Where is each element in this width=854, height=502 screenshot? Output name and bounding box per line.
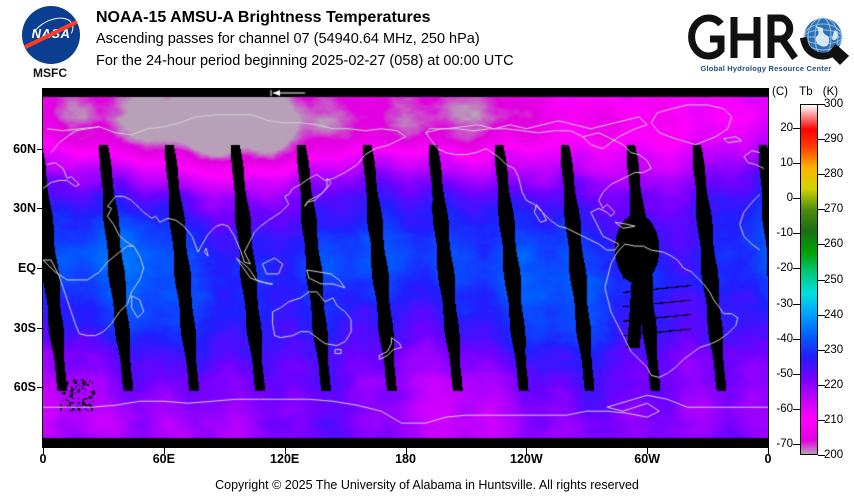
longitude-tick-mark [164,448,165,454]
longitude-tick-label: 180 [395,452,416,466]
longitude-tick-label: 120E [270,452,299,466]
colorbar-kelvin-label: 200 [824,449,843,461]
longitude-tick-label: 0 [40,452,47,466]
longitude-tick-mark [285,448,286,454]
longitude-tick-label: 60E [153,452,175,466]
colorbar-celsius-label: -20 [776,262,793,274]
colorbar-gradient[interactable] [800,104,818,455]
colorbar-kelvin-label: 250 [824,274,843,286]
colorbar-celsius-tick [793,268,800,269]
latitude-tick-mark [37,149,44,150]
colorbar-celsius-tick [793,128,800,129]
colorbar-celsius-label: -10 [776,227,793,239]
colorbar-celsius-unit: (C) [772,86,788,98]
latitude-tick-label: EQ [18,261,36,275]
colorbar-kelvin-unit: (K) [823,86,838,98]
nasa-logo: NASA MSFC [14,6,86,84]
colorbar-variable-label: Tb [799,86,812,98]
colorbar-kelvin-label: 230 [824,344,843,356]
longitude-tick-mark [406,448,407,454]
latitude-tick-label: 60S [14,380,36,394]
page-subtitle-period: For the 24-hour period beginning 2025-02… [96,50,676,72]
longitude-tick-label: 0 [765,452,772,466]
ghrc-logo: Global Hydrology Resource Center [683,8,849,80]
colorbar-celsius-label: 0 [787,192,793,204]
colorbar-kelvin-label: 220 [824,379,843,391]
colorbar-kelvin-label: 280 [824,168,843,180]
colorbar-celsius-tick [793,163,800,164]
nasa-center-label: MSFC [14,66,86,80]
colorbar-celsius-tick [793,339,800,340]
colorbar-kelvin-label: 300 [824,98,843,110]
colorbar-celsius-label: 20 [780,122,793,134]
title-block: NOAA-15 AMSU-A Brightness Temperatures A… [96,8,676,72]
ghrc-wordmark-icon [683,8,849,66]
latitude-tick-label: 30N [13,201,36,215]
colorbar-celsius-tick [793,409,800,410]
page-subtitle-channel: Ascending passes for channel 07 (54940.6… [96,28,676,50]
latitude-tick-mark [37,387,44,388]
colorbar-kelvin-label: 270 [824,203,843,215]
page-title: NOAA-15 AMSU-A Brightness Temperatures [96,8,676,28]
map-raster[interactable] [43,89,768,447]
copyright-notice: Copyright © 2025 The University of Alaba… [0,478,854,492]
longitude-tick-mark [43,448,44,454]
colorbar-kelvin-label: 240 [824,309,843,321]
colorbar-celsius-tick [793,198,800,199]
colorbar-celsius-tick [793,233,800,234]
colorbar-header: (C) Tb (K) [772,86,854,98]
colorbar-celsius-label: -30 [776,298,793,310]
latitude-tick-label: 30S [14,321,36,335]
longitude-tick-mark [647,448,648,454]
colorbar-celsius-label: -50 [776,368,793,380]
colorbar-celsius-label: 10 [780,157,793,169]
colorbar-kelvin-label: 210 [824,414,843,426]
page-header: NASA MSFC NOAA-15 AMSU-A Brightness Temp… [0,0,854,88]
colorbar-celsius-tick [793,304,800,305]
latitude-tick-mark [37,268,44,269]
colorbar-celsius-label: -40 [776,333,793,345]
colorbar-celsius-label: -60 [776,403,793,415]
longitude-tick-label: 60W [634,452,660,466]
latitude-tick-label: 60N [13,142,36,156]
latitude-tick-mark [37,208,44,209]
nasa-meatball-icon: NASA [22,6,80,64]
ghrc-subtitle: Global Hydrology Resource Center [683,64,849,73]
colorbar-celsius-tick [793,374,800,375]
longitude-tick-mark [526,448,527,454]
colorbar-celsius-label: -70 [776,438,793,450]
colorbar-celsius-tick [793,444,800,445]
longitude-tick-mark [768,448,769,454]
brightness-temperature-map[interactable] [43,89,768,447]
latitude-tick-mark [37,328,44,329]
colorbar-kelvin-label: 260 [824,238,843,250]
longitude-tick-label: 120W [510,452,543,466]
colorbar-kelvin-label: 290 [824,133,843,145]
